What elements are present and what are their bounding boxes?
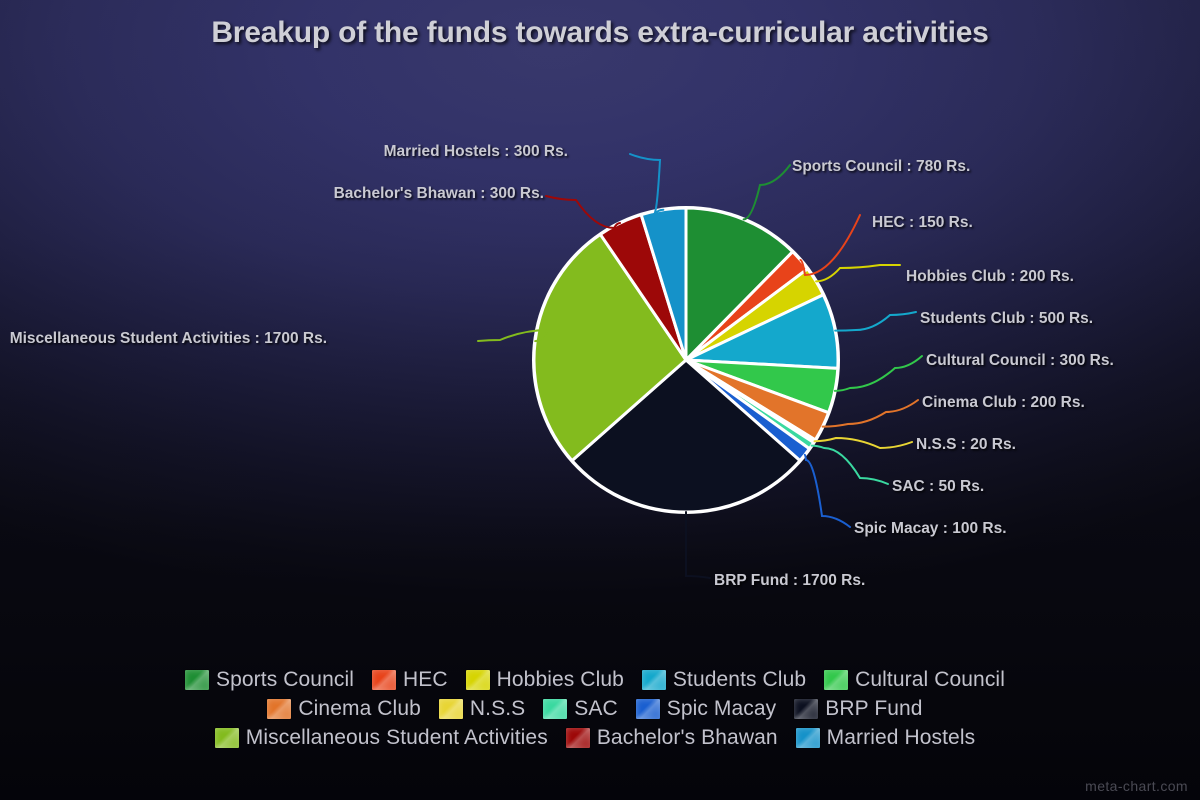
- legend-label: Sports Council: [216, 668, 354, 692]
- legend-label: Students Club: [673, 668, 806, 692]
- leader-line: [816, 265, 900, 281]
- callout-miscellaneous: Miscellaneous Student Activities : 1700 …: [10, 330, 327, 348]
- legend-swatch-icon: [566, 728, 590, 748]
- legend-swatch-icon: [796, 728, 820, 748]
- legend-row: Sports CouncilHECHobbies ClubStudents Cl…: [185, 668, 1015, 692]
- pie-slices[interactable]: Sports Council : 780 Rs.HEC : 150 Rs.Hob…: [532, 206, 840, 514]
- callout-cinema-club: Cinema Club : 200 Rs.: [922, 394, 1085, 412]
- legend-item[interactable]: Students Club: [642, 668, 806, 692]
- legend-label: BRP Fund: [825, 697, 922, 721]
- callout-bachelors-bhawan: Bachelor's Bhawan : 300 Rs.: [334, 185, 544, 203]
- legend-item[interactable]: Miscellaneous Student Activities: [215, 726, 548, 750]
- callout-brp-fund: BRP Fund : 1700 Rs.: [714, 572, 865, 590]
- callout-students-club: Students Club : 500 Rs.: [920, 310, 1093, 328]
- leader-line: [805, 455, 850, 527]
- legend-item[interactable]: HEC: [372, 668, 448, 692]
- legend-item[interactable]: Spic Macay: [636, 697, 777, 721]
- callout-hobbies-club: Hobbies Club : 200 Rs.: [906, 268, 1074, 286]
- callout-spic-macay: Spic Macay : 100 Rs.: [854, 520, 1007, 538]
- legend-swatch-icon: [466, 670, 490, 690]
- legend-swatch-icon: [642, 670, 666, 690]
- legend-item[interactable]: Hobbies Club: [466, 668, 624, 692]
- legend-label: SAC: [574, 697, 617, 721]
- legend-label: HEC: [403, 668, 448, 692]
- legend-swatch-icon: [543, 699, 567, 719]
- legend-label: Cinema Club: [298, 697, 421, 721]
- leader-line: [835, 312, 916, 331]
- legend-item[interactable]: Cultural Council: [824, 668, 1005, 692]
- callout-hec: HEC : 150 Rs.: [872, 214, 973, 232]
- callout-cultural-council: Cultural Council : 300 Rs.: [926, 352, 1114, 370]
- legend-label: Bachelor's Bhawan: [597, 726, 778, 750]
- legend-item[interactable]: BRP Fund: [794, 697, 922, 721]
- legend-swatch-icon: [267, 699, 291, 719]
- leader-line: [823, 400, 918, 427]
- legend-swatch-icon: [185, 670, 209, 690]
- legend-label: Hobbies Club: [497, 668, 624, 692]
- legend-swatch-icon: [372, 670, 396, 690]
- chart-legend: Sports CouncilHECHobbies ClubStudents Cl…: [0, 668, 1200, 750]
- callout-sports-council: Sports Council : 780 Rs.: [792, 158, 970, 176]
- legend-item[interactable]: Cinema Club: [267, 697, 421, 721]
- legend-item[interactable]: Sports Council: [185, 668, 354, 692]
- leader-line: [546, 196, 620, 228]
- legend-swatch-icon: [439, 699, 463, 719]
- callout-sac: SAC : 50 Rs.: [892, 478, 984, 496]
- legend-label: Cultural Council: [855, 668, 1005, 692]
- legend-swatch-icon: [636, 699, 660, 719]
- legend-label: Married Hostels: [827, 726, 976, 750]
- leader-line: [744, 165, 790, 219]
- legend-item[interactable]: Bachelor's Bhawan: [566, 726, 778, 750]
- leader-line: [630, 154, 663, 214]
- leader-line: [812, 446, 888, 484]
- callout-married-hostels: Married Hostels : 300 Rs.: [384, 143, 568, 161]
- chart-title: Breakup of the funds towards extra-curri…: [0, 16, 1200, 50]
- legend-swatch-icon: [215, 728, 239, 748]
- watermark: meta-chart.com: [1085, 778, 1188, 794]
- legend-label: N.S.S: [470, 697, 525, 721]
- legend-row: Miscellaneous Student ActivitiesBachelor…: [215, 726, 985, 750]
- legend-label: Miscellaneous Student Activities: [246, 726, 548, 750]
- legend-row: Cinema ClubN.S.SSACSpic MacayBRP Fund: [267, 697, 932, 721]
- legend-swatch-icon: [794, 699, 818, 719]
- callout-nss: N.S.S : 20 Rs.: [916, 436, 1016, 454]
- leader-line: [815, 438, 912, 448]
- legend-item[interactable]: Married Hostels: [796, 726, 976, 750]
- chart-canvas: Breakup of the funds towards extra-curri…: [0, 0, 1200, 800]
- legend-swatch-icon: [824, 670, 848, 690]
- leader-line: [800, 215, 860, 275]
- legend-item[interactable]: N.S.S: [439, 697, 525, 721]
- leader-line: [686, 512, 710, 578]
- legend-item[interactable]: SAC: [543, 697, 617, 721]
- legend-label: Spic Macay: [667, 697, 777, 721]
- leader-line: [835, 356, 922, 391]
